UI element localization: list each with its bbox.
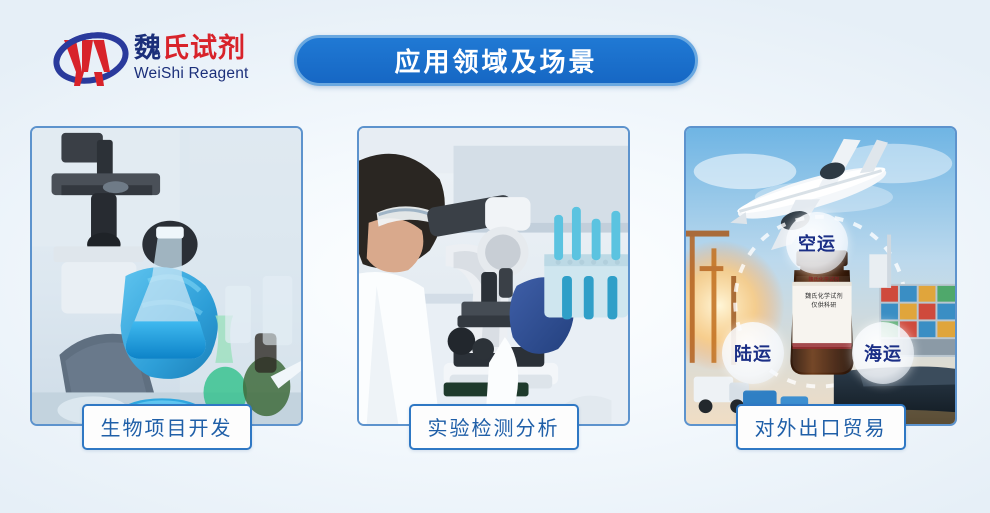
company-logo: 魏氏试剂 WeiShi Reagent [52,26,267,92]
slide-root: 魏氏试剂 WeiShi Reagent 应用领域及场景 [0,0,990,513]
logo-chinese-name: 魏氏试剂 [134,34,249,62]
logo-cn-secondary: 氏试剂 [162,33,246,63]
bottle-label-line2: 仅供科研 [798,302,850,311]
card-image-logistics: 空运 陆运 海运 魏氏化学试剂 魏氏化学试剂 仅供科研 [684,126,957,426]
card-caption-bio: 生物项目开发 [82,404,252,450]
header: 魏氏试剂 WeiShi Reagent 应用领域及场景 [0,0,990,118]
bottle-label-text: 魏氏化学试剂 仅供科研 [798,293,850,310]
card-image-lab [357,126,630,426]
card-export-trade[interactable]: 空运 陆运 海运 魏氏化学试剂 魏氏化学试剂 仅供科研 对外出口贸易 [684,126,957,426]
card-caption-lab: 实验检测分析 [409,404,579,450]
card-caption-text: 生物项目开发 [101,418,233,440]
card-bio-project-development[interactable]: 生物项目开发 [30,126,303,426]
card-caption-text: 对外出口贸易 [755,418,887,440]
section-title-text: 应用领域及场景 [394,42,597,79]
bubble-land-freight: 陆运 [722,322,784,384]
bubble-land-text: 陆运 [734,340,772,366]
card-caption-export: 对外出口贸易 [736,404,906,450]
section-title-banner: 应用领域及场景 [294,35,698,86]
logo-english-name: WeiShi Reagent [134,64,249,83]
bubble-air-text: 空运 [798,230,836,256]
card-row: 生物项目开发 [0,126,990,476]
card-caption-text: 实验检测分析 [428,418,560,440]
logo-cn-primary: 魏 [134,33,162,63]
logo-wordmark: 魏氏试剂 WeiShi Reagent [134,34,249,84]
bubble-sea-freight: 海运 [852,322,914,384]
bottle-label-line1: 魏氏化学试剂 [798,293,850,302]
card-lab-testing-analysis[interactable]: 实验检测分析 [357,126,630,426]
bottle-brand-mark: 魏氏化学试剂 [798,276,850,283]
weishi-w-logo-icon [52,28,130,90]
bubble-air-freight: 空运 [786,212,848,274]
bubble-sea-text: 海运 [864,340,902,366]
card-image-bio [30,126,303,426]
